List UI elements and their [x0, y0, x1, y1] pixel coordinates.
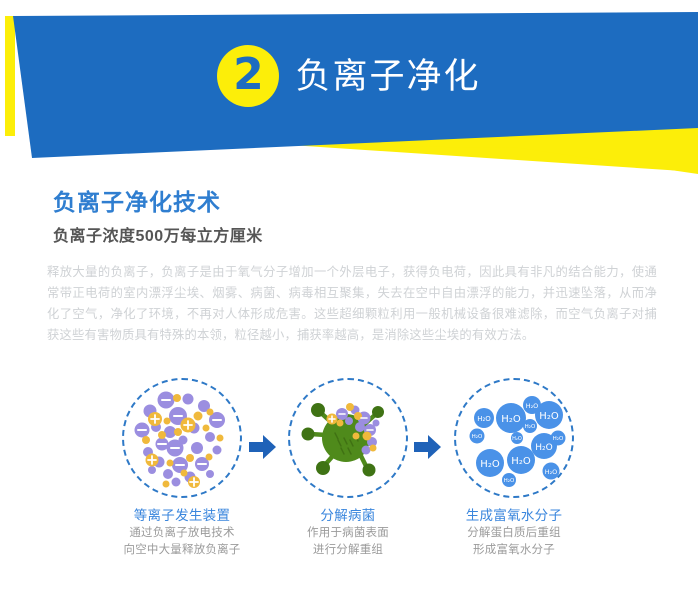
germ-virus-icon — [288, 378, 408, 498]
ion-cloud-icon — [122, 378, 242, 498]
svg-text:H₂O: H₂O — [525, 424, 536, 430]
water-molecule-icon: H₂O H₂O H₂O H₂O H₂O H₂O H₂O H₂O H₂O H₂O … — [454, 378, 574, 498]
svg-text:H₂O: H₂O — [480, 459, 500, 470]
number-badge-icon: 2 — [217, 45, 279, 107]
process-stage-germ-decomposition: 分解病菌 作用于病菌表面 进行分解重组 — [268, 378, 428, 558]
svg-text:H₂O: H₂O — [539, 411, 559, 422]
svg-text:H₂O: H₂O — [535, 443, 552, 453]
banner-title: 负离子净化 — [295, 59, 480, 94]
stage-3-caption: 生成富氧水分子 分解蛋白质后重组 形成富氧水分子 — [434, 507, 594, 558]
svg-text:H₂O: H₂O — [504, 478, 515, 484]
stage-3-title: 生成富氧水分子 — [434, 507, 594, 525]
stage-1-line-1: 通过负离子放电技术 — [102, 525, 262, 542]
stage-1-illustration — [122, 378, 242, 498]
stage-2-illustration — [288, 378, 408, 498]
section-body-text: 释放大量的负离子，负离子是由于氧气分子增加一个外层电子，获得负电荷，因此具有非凡… — [47, 262, 657, 346]
svg-text:H₂O: H₂O — [511, 456, 531, 467]
svg-text:H₂O: H₂O — [553, 436, 564, 442]
svg-text:H₂O: H₂O — [472, 434, 483, 440]
page-banner: 2 负离子净化 — [0, 0, 698, 180]
svg-text:H₂O: H₂O — [526, 402, 539, 410]
stage-3-line-2: 形成富氧水分子 — [434, 542, 594, 559]
stage-3-line-1: 分解蛋白质后重组 — [434, 525, 594, 542]
process-diagram: 等离子发生装置 通过负离子放电技术 向空中大量释放负离子 — [0, 378, 698, 598]
stage-1-line-2: 向空中大量释放负离子 — [102, 542, 262, 559]
stage-3-illustration: H₂O H₂O H₂O H₂O H₂O H₂O H₂O H₂O H₂O H₂O … — [454, 378, 574, 498]
stage-1-title: 等离子发生装置 — [102, 507, 262, 525]
badge-number-label: 2 — [233, 53, 264, 97]
section-subheading: 负离子浓度500万每立方厘米 — [53, 222, 263, 246]
svg-text:H₂O: H₂O — [477, 415, 491, 423]
section-heading: 负离子净化技术 — [53, 183, 221, 217]
svg-text:H₂O: H₂O — [545, 468, 558, 476]
stage-1-caption: 等离子发生装置 通过负离子放电技术 向空中大量释放负离子 — [102, 507, 262, 558]
process-stage-ion-generator: 等离子发生装置 通过负离子放电技术 向空中大量释放负离子 — [102, 378, 262, 558]
svg-text:H₂O: H₂O — [512, 436, 522, 442]
svg-text:H₂O: H₂O — [501, 414, 521, 425]
stage-2-line-1: 作用于病菌表面 — [268, 525, 428, 542]
stage-2-line-2: 进行分解重组 — [268, 542, 428, 559]
banner-content: 2 负离子净化 — [0, 0, 698, 180]
stage-2-title: 分解病菌 — [268, 507, 428, 525]
stage-2-caption: 分解病菌 作用于病菌表面 进行分解重组 — [268, 507, 428, 558]
process-stage-oxygen-rich-water: H₂O H₂O H₂O H₂O H₂O H₂O H₂O H₂O H₂O H₂O … — [434, 378, 594, 558]
